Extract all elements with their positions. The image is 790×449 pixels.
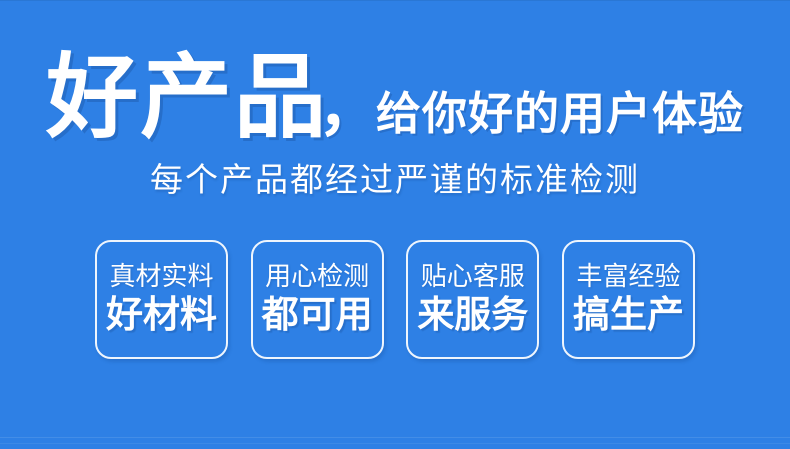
feature-box-title: 搞生产 xyxy=(573,294,684,337)
feature-box-caption: 用心检测 xyxy=(265,262,369,292)
feature-box-list: 真材实料 好材料 用心检测 都可用 贴心客服 来服务 丰富经验 搞生产 xyxy=(95,240,695,359)
promo-banner: 好产品，给你好的用户体验 每个产品都经过严谨的标准检测 真材实料 好材料 用心检… xyxy=(0,0,790,449)
feature-box-service: 贴心客服 来服务 xyxy=(406,240,539,359)
feature-box-title: 来服务 xyxy=(417,294,528,337)
bottom-edge-band-upper xyxy=(0,437,790,438)
bottom-edge-band-lower xyxy=(0,443,790,444)
feature-box-caption: 真材实料 xyxy=(109,262,213,292)
headline-comma: ， xyxy=(318,78,380,140)
subtitle: 每个产品都经过严谨的标准检测 xyxy=(0,159,790,200)
feature-box-caption: 丰富经验 xyxy=(576,262,680,292)
feature-box-title: 好材料 xyxy=(106,294,217,337)
headline-primary-text: 好产品 xyxy=(46,52,328,144)
feature-box-title: 都可用 xyxy=(262,294,373,337)
top-edge-band xyxy=(0,0,790,1)
feature-box-materials: 真材实料 好材料 xyxy=(95,240,228,359)
feature-box-experience: 丰富经验 搞生产 xyxy=(562,240,695,359)
headline: 好产品，给你好的用户体验 xyxy=(0,52,790,144)
feature-box-inspection: 用心检测 都可用 xyxy=(251,240,384,359)
headline-secondary-text: 给你好的用户体验 xyxy=(376,91,744,136)
feature-box-caption: 贴心客服 xyxy=(421,262,525,292)
